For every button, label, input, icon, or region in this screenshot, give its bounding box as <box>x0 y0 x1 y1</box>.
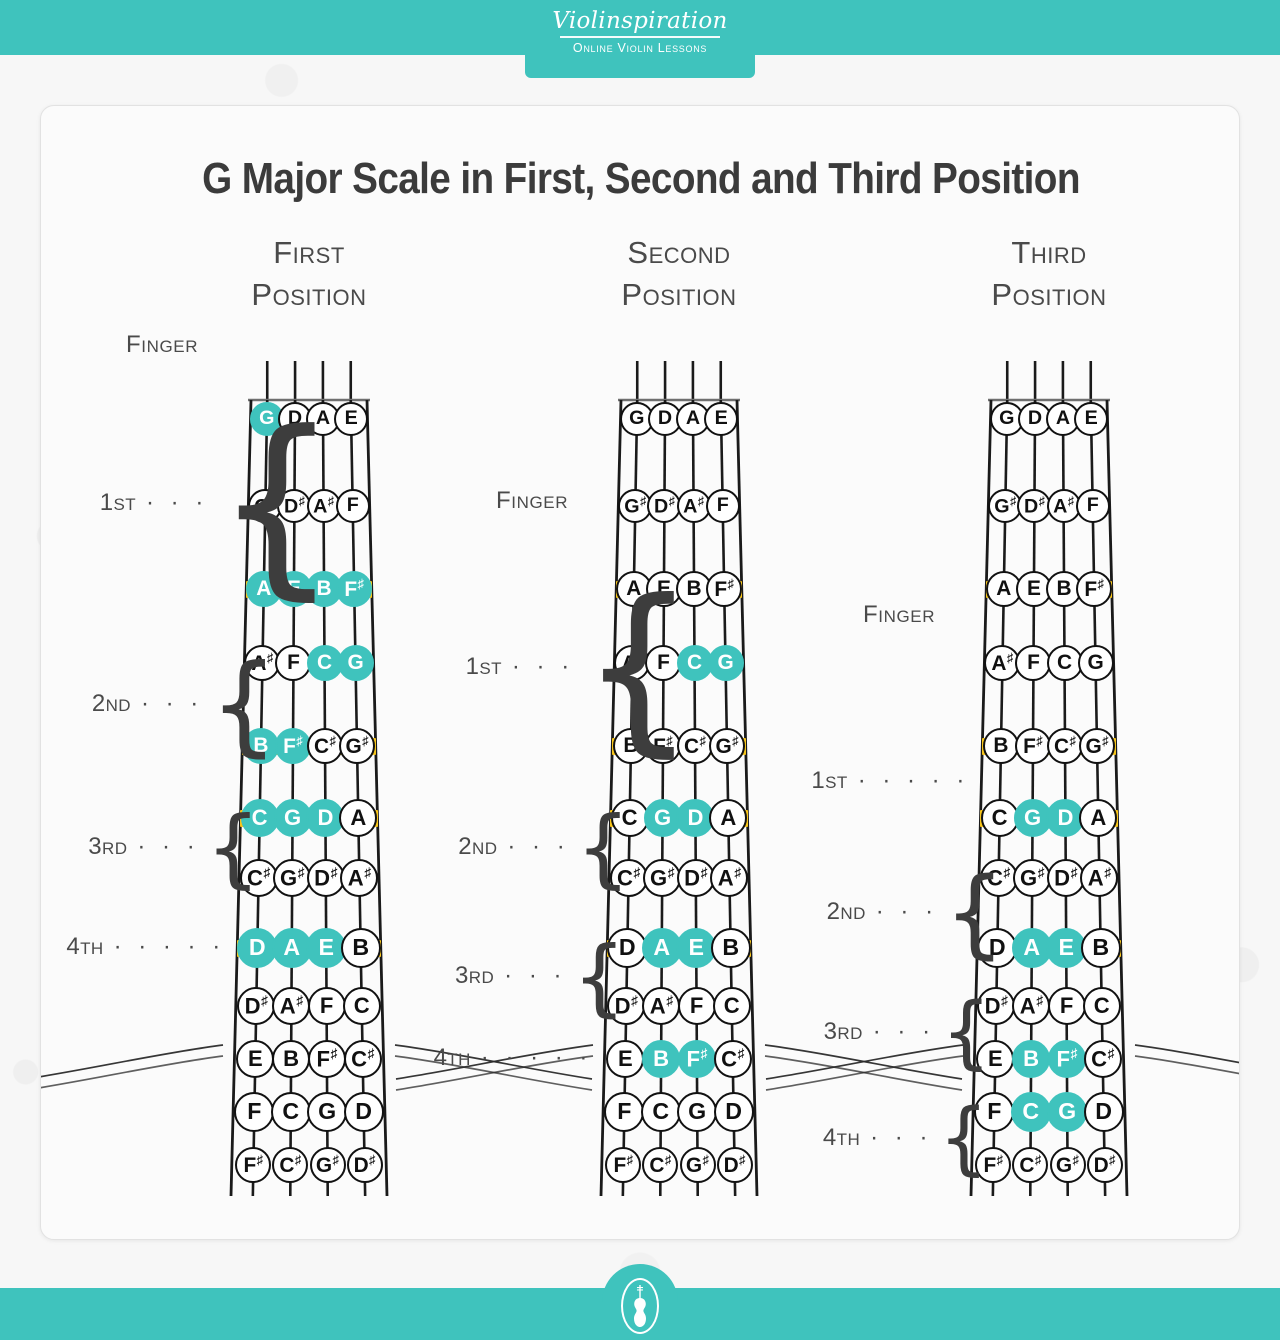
sharp-symbol: ♯ <box>1070 1046 1077 1061</box>
finger-row-label-3rd: 3rd· · · <box>767 1018 935 1046</box>
sharp-symbol: ♯ <box>633 865 640 880</box>
note-label: F♯ <box>283 735 303 758</box>
note-label: G♯ <box>316 1154 339 1177</box>
note-label: C♯ <box>649 1154 671 1177</box>
sharp-symbol: ♯ <box>296 993 303 1008</box>
sharp-symbol: ♯ <box>298 865 305 880</box>
sharp-symbol: ♯ <box>1010 494 1016 508</box>
sharp-symbol: ♯ <box>737 1046 744 1061</box>
position-heading-third: ThirdPosition <box>919 232 1179 316</box>
note-label: D <box>317 807 333 829</box>
note-marker[interactable]: C♯ <box>1047 728 1083 764</box>
note-label: A♯ <box>280 994 303 1017</box>
note-marker[interactable]: G♯ <box>1050 1147 1086 1183</box>
note-marker[interactable]: D♯ <box>677 859 715 897</box>
finger-brace: { <box>214 406 339 602</box>
finger-brace: { <box>944 865 1005 961</box>
finger-leader-dots: · · · <box>137 833 199 860</box>
note-marker[interactable]: G♯ <box>1013 859 1051 897</box>
note-marker[interactable]: G♯ <box>709 728 745 764</box>
finger-row-label-1st: 1st· · · · · <box>773 767 969 795</box>
finger-brace: { <box>580 576 696 759</box>
finger-brace: { <box>572 935 625 1019</box>
note-label: G♯ <box>994 495 1016 517</box>
note-marker[interactable]: F♯ <box>706 571 742 607</box>
note-label: A <box>283 936 300 959</box>
violin-body-curve-right <box>1135 1045 1240 1079</box>
note-label: G <box>1024 807 1041 829</box>
finger-leader-dots: · · · <box>504 962 566 989</box>
violin-body-curve-left <box>41 1045 223 1079</box>
note-label: F♯ <box>344 578 364 601</box>
sharp-symbol: ♯ <box>1104 865 1111 880</box>
note-label: F♯ <box>244 1154 264 1177</box>
content-card: G Major Scale in First, Second and Third… <box>40 105 1240 1240</box>
note-label: F <box>987 1100 1001 1123</box>
note-label: C <box>317 653 332 674</box>
note-marker[interactable]: F♯ <box>336 571 372 607</box>
sharp-symbol: ♯ <box>369 1152 375 1167</box>
note-label: D <box>1028 409 1042 429</box>
note-label: A♯ <box>1053 495 1074 517</box>
note-marker[interactable]: B <box>983 728 1019 764</box>
note-label: B <box>283 1048 299 1070</box>
note-label: C♯ <box>314 735 336 758</box>
note-label: D <box>687 807 703 829</box>
sharp-symbol: ♯ <box>732 733 738 748</box>
finger-row-label-1st: 1st· · · <box>40 489 208 517</box>
note-label: A <box>686 409 700 429</box>
note-label: G <box>629 409 644 429</box>
note-marker[interactable]: G♯ <box>680 1147 716 1183</box>
note-marker[interactable]: B <box>1081 928 1121 968</box>
note-marker[interactable]: C <box>641 1092 681 1132</box>
note-label: G <box>654 807 671 829</box>
finger-row-label-4th: 4th· · · · · <box>40 933 225 961</box>
note-marker[interactable]: F♯ <box>1015 728 1051 764</box>
note-marker[interactable]: F <box>678 987 716 1025</box>
sharp-symbol: ♯ <box>698 494 704 508</box>
note-label: B <box>722 936 739 959</box>
finger-leader-dots: · · · · · <box>114 933 226 960</box>
heading-line-1: Second <box>549 232 809 274</box>
note-marker[interactable]: F♯ <box>678 1040 716 1078</box>
note-label: A <box>350 807 366 829</box>
note-label: G <box>688 1100 706 1123</box>
sharp-symbol: ♯ <box>1070 733 1076 748</box>
sharp-symbol: ♯ <box>1073 1152 1079 1167</box>
sharp-symbol: ♯ <box>1107 1046 1114 1061</box>
sharp-symbol: ♯ <box>362 733 368 748</box>
note-marker[interactable]: G <box>307 1092 347 1132</box>
note-label: F♯ <box>1056 1047 1077 1070</box>
position-heading-second: SecondPosition <box>549 232 809 316</box>
note-label: E <box>618 1048 633 1070</box>
note-marker[interactable]: F♯ <box>308 1040 346 1078</box>
note-marker[interactable]: D <box>1084 1092 1124 1132</box>
position-heading-first: FirstPosition <box>179 232 439 316</box>
note-label: C♯ <box>1019 1154 1041 1177</box>
note-label: G♯ <box>715 735 738 758</box>
note-label: A <box>720 807 736 829</box>
note-label: D♯ <box>354 1154 376 1177</box>
note-label: C <box>282 1100 299 1123</box>
sharp-symbol: ♯ <box>668 865 675 880</box>
sharp-symbol: ♯ <box>728 576 734 591</box>
note-label: E <box>1027 579 1041 600</box>
finger-number: 4th <box>66 933 103 960</box>
note-marker[interactable]: B <box>711 928 751 968</box>
note-label: A♯ <box>1088 866 1111 889</box>
note-marker[interactable]: G♯ <box>643 859 681 897</box>
note-marker[interactable]: D♯ <box>1087 1147 1123 1183</box>
note-label: A <box>1056 409 1070 429</box>
note-label: D♯ <box>654 495 675 517</box>
note-label: F♯ <box>316 1047 337 1070</box>
note-marker[interactable]: E <box>704 402 738 436</box>
finger-leader-dots: · · · <box>873 1018 935 1045</box>
brand-divider <box>560 36 720 38</box>
finger-number: 4th <box>823 1124 860 1151</box>
sharp-symbol: ♯ <box>330 733 336 748</box>
sharp-symbol: ♯ <box>1071 865 1078 880</box>
note-label: G <box>284 807 301 829</box>
note-marker[interactable]: B <box>341 928 381 968</box>
violin-body-curve-right <box>1135 1056 1240 1090</box>
finger-number: 2nd <box>458 833 497 860</box>
note-label: F <box>347 496 359 516</box>
sharp-symbol: ♯ <box>1109 1152 1115 1167</box>
note-label: G <box>1058 1100 1076 1123</box>
note-label: F <box>287 653 300 674</box>
note-label: A♯ <box>650 994 673 1017</box>
sharp-symbol: ♯ <box>1035 1152 1041 1167</box>
sharp-symbol: ♯ <box>1068 494 1074 508</box>
note-label: G♯ <box>1056 1154 1079 1177</box>
note-label: A <box>996 579 1011 600</box>
finger-brace: { <box>209 650 278 759</box>
note-label: B <box>1057 579 1072 600</box>
finger-number: 4th <box>434 1044 471 1071</box>
heading-line-2: Position <box>179 274 439 316</box>
brand-tagline: Online Violin Lessons <box>525 41 755 55</box>
finger-leader-dots: · · · · · <box>481 1044 593 1071</box>
note-label: D <box>249 936 266 959</box>
sharp-symbol: ♯ <box>669 494 675 508</box>
sharp-symbol: ♯ <box>666 993 673 1008</box>
brand-logo: Violinspiration Online Violin Lessons <box>525 0 755 78</box>
sharp-symbol: ♯ <box>333 1152 339 1167</box>
note-label: D♯ <box>1054 866 1077 889</box>
note-label: F <box>617 1100 631 1123</box>
finger-brace: { <box>938 1099 988 1178</box>
note-marker[interactable]: D <box>344 1092 384 1132</box>
note-marker[interactable]: G <box>1078 645 1114 681</box>
sharp-symbol: ♯ <box>263 865 270 880</box>
note-label: G♯ <box>686 1154 709 1177</box>
note-label: F♯ <box>686 1047 707 1070</box>
infographic-page: Violinspiration Online Violin Lessons G … <box>0 0 1280 1340</box>
note-label: A <box>1023 936 1040 959</box>
violin-body-curve-left <box>41 1056 223 1090</box>
note-label: C <box>1022 1100 1039 1123</box>
note-label: B <box>1023 1048 1039 1070</box>
sharp-symbol: ♯ <box>1007 650 1013 665</box>
note-label: F♯ <box>1023 735 1043 758</box>
heading-line-1: Third <box>919 232 1179 274</box>
finger-leader-dots: · · · · · <box>858 767 970 794</box>
sharp-symbol: ♯ <box>700 733 706 748</box>
note-label: F <box>247 1100 261 1123</box>
note-label: G♯ <box>280 866 304 889</box>
note-marker[interactable]: B <box>642 1040 680 1078</box>
note-label: D♯ <box>684 866 707 889</box>
violin-glyph <box>631 1284 649 1328</box>
finger-column-header-second: Finger <box>496 487 568 515</box>
note-label: C <box>652 1100 669 1123</box>
note-label: B <box>1092 936 1109 959</box>
note-label: C <box>354 995 370 1017</box>
note-label: A♯ <box>348 866 371 889</box>
note-marker[interactable]: F <box>706 489 740 523</box>
note-marker[interactable]: G♯ <box>339 728 375 764</box>
note-label: G♯ <box>650 866 674 889</box>
brand-name: Violinspiration <box>525 8 755 34</box>
sharp-symbol: ♯ <box>330 1046 337 1061</box>
note-label: C <box>1094 995 1110 1017</box>
sharp-symbol: ♯ <box>1038 865 1045 880</box>
finger-number: 3rd <box>455 962 494 989</box>
note-marker[interactable]: C <box>713 987 751 1025</box>
note-label: A♯ <box>991 652 1013 675</box>
note-label: A <box>653 936 670 959</box>
note-label: A♯ <box>1020 994 1043 1017</box>
note-marker[interactable]: C <box>1011 1092 1051 1132</box>
note-marker[interactable]: G♯ <box>1079 728 1115 764</box>
note-marker[interactable]: B <box>1012 1040 1050 1078</box>
note-marker[interactable]: C♯ <box>344 1040 382 1078</box>
sharp-symbol: ♯ <box>997 1152 1003 1167</box>
note-marker[interactable]: F♯ <box>1048 1040 1086 1078</box>
note-label: E <box>715 409 728 429</box>
note-label: G♯ <box>624 495 646 517</box>
finger-brace: { <box>576 805 631 891</box>
note-marker[interactable]: G <box>677 1092 717 1132</box>
note-marker[interactable]: D <box>714 1092 754 1132</box>
sharp-symbol: ♯ <box>739 1152 745 1167</box>
note-label: F♯ <box>614 1154 634 1177</box>
note-marker[interactable]: G <box>1047 1092 1087 1132</box>
note-marker[interactable]: D♯ <box>307 859 345 897</box>
note-label: G♯ <box>1020 866 1044 889</box>
note-label: F <box>320 995 333 1017</box>
finger-row-label-3rd: 3rd· · · <box>40 833 200 861</box>
note-marker[interactable]: C <box>271 1092 311 1132</box>
sharp-symbol: ♯ <box>257 1152 263 1167</box>
note-label: E <box>248 1048 263 1070</box>
note-label: E <box>688 936 703 959</box>
finger-row-label-2nd: 2nd· · · <box>402 833 570 861</box>
finger-leader-dots: · · · <box>876 898 938 925</box>
note-label: E <box>318 936 333 959</box>
finger-leader-dots: · · · <box>512 653 574 680</box>
note-marker[interactable]: D♯ <box>347 1147 383 1183</box>
note-label: G <box>999 409 1014 429</box>
finger-row-label-4th: 4th· · · <box>764 1124 932 1152</box>
note-label: C♯ <box>1054 735 1076 758</box>
sharp-symbol: ♯ <box>631 993 638 1008</box>
note-label: F <box>690 995 703 1017</box>
note-marker[interactable]: F <box>308 987 346 1025</box>
note-label: G <box>347 653 363 674</box>
note-label: C <box>1057 653 1072 674</box>
finger-row-label-4th: 4th· · · · · <box>396 1044 592 1072</box>
sharp-symbol: ♯ <box>1098 576 1104 591</box>
note-marker[interactable]: C <box>343 987 381 1025</box>
note-marker[interactable]: F <box>1048 987 1086 1025</box>
note-label: F <box>1027 653 1040 674</box>
note-label: D♯ <box>314 866 337 889</box>
finger-row-label-1st: 1st· · · <box>406 653 574 681</box>
note-label: G♯ <box>1085 735 1108 758</box>
sharp-symbol: ♯ <box>295 1152 301 1167</box>
sharp-symbol: ♯ <box>364 865 371 880</box>
note-label: D <box>355 1100 372 1123</box>
note-label: A♯ <box>718 866 741 889</box>
note-marker[interactable]: F♯ <box>275 728 311 764</box>
note-label: C <box>992 807 1008 829</box>
note-label: G <box>1087 653 1103 674</box>
note-label: F <box>717 496 729 516</box>
note-label: E <box>1085 409 1098 429</box>
sharp-symbol: ♯ <box>1039 494 1045 508</box>
note-label: D <box>658 409 672 429</box>
finger-brace: { <box>206 805 261 891</box>
finger-number: 1st <box>466 653 502 680</box>
sharp-symbol: ♯ <box>331 865 338 880</box>
finger-leader-dots: · · · <box>870 1124 932 1151</box>
note-label: F <box>1060 995 1073 1017</box>
note-label: C <box>724 995 740 1017</box>
sharp-symbol: ♯ <box>700 1046 707 1061</box>
note-label: D♯ <box>724 1154 746 1177</box>
sharp-symbol: ♯ <box>1036 993 1043 1008</box>
sharp-symbol: ♯ <box>296 733 302 748</box>
finger-row-label-2nd: 2nd· · · <box>770 898 938 926</box>
note-label: G♯ <box>345 735 368 758</box>
note-label: A <box>1090 807 1106 829</box>
note-marker[interactable]: E <box>334 402 368 436</box>
finger-leader-dots: · · · <box>141 690 203 717</box>
violin-icon <box>621 1278 659 1334</box>
note-label: B <box>653 1048 669 1070</box>
finger-row-label-2nd: 2nd· · · <box>40 690 203 718</box>
note-marker[interactable]: C♯ <box>307 728 343 764</box>
footer-badge <box>602 1264 678 1340</box>
finger-number: 3rd <box>824 1018 863 1045</box>
sharp-symbol: ♯ <box>1001 993 1008 1008</box>
note-marker[interactable]: F♯ <box>1076 571 1112 607</box>
sharp-symbol: ♯ <box>627 1152 633 1167</box>
note-marker[interactable]: C <box>981 799 1019 837</box>
note-marker[interactable]: C <box>1083 987 1121 1025</box>
note-label: F <box>1087 496 1099 516</box>
sharp-symbol: ♯ <box>261 993 268 1008</box>
note-label: D <box>725 1100 742 1123</box>
note-marker[interactable]: G <box>338 645 374 681</box>
note-label: D <box>1057 807 1073 829</box>
finger-number: 2nd <box>827 898 866 925</box>
finger-row-label-3rd: 3rd· · · <box>398 962 566 990</box>
note-marker[interactable]: G♯ <box>273 859 311 897</box>
finger-column-header-first: Finger <box>126 331 198 359</box>
finger-number: 2nd <box>92 690 131 717</box>
heading-line-2: Position <box>549 274 809 316</box>
finger-leader-dots: · · · <box>507 833 569 860</box>
note-marker[interactable]: B <box>272 1040 310 1078</box>
finger-brace: { <box>941 993 991 1072</box>
note-label: D♯ <box>245 994 268 1017</box>
note-marker[interactable]: D♯ <box>237 987 275 1025</box>
sharp-symbol: ♯ <box>703 1152 709 1167</box>
finger-number: 1st <box>811 767 847 794</box>
note-marker[interactable]: G <box>708 645 744 681</box>
note-label: A♯ <box>683 495 704 517</box>
note-marker[interactable]: D♯ <box>1047 859 1085 897</box>
sharp-symbol: ♯ <box>640 494 646 508</box>
finger-leader-dots: · · · <box>146 489 208 516</box>
note-label: F♯ <box>714 578 734 601</box>
note-label: C♯ <box>1091 1047 1114 1070</box>
note-marker[interactable]: C♯ <box>714 1040 752 1078</box>
finger-column-header-third: Finger <box>863 601 935 629</box>
note-label: C♯ <box>721 1047 744 1070</box>
note-label: B <box>993 736 1008 757</box>
note-marker[interactable]: F <box>336 489 370 523</box>
note-label: D♯ <box>1094 1154 1116 1177</box>
note-marker[interactable]: E <box>1074 402 1108 436</box>
sharp-symbol: ♯ <box>734 865 741 880</box>
sharp-symbol: ♯ <box>665 1152 671 1167</box>
note-label: C♯ <box>351 1047 374 1070</box>
note-marker[interactable]: G♯ <box>310 1147 346 1183</box>
sharp-symbol: ♯ <box>367 1046 374 1061</box>
finger-number: 1st <box>100 489 136 516</box>
heading-line-1: First <box>179 232 439 274</box>
sharp-symbol: ♯ <box>1036 733 1042 748</box>
note-label: E <box>1058 936 1073 959</box>
note-label: G <box>717 653 733 674</box>
note-label: F♯ <box>1084 578 1104 601</box>
note-marker[interactable]: D♯ <box>717 1147 753 1183</box>
sharp-symbol: ♯ <box>1102 733 1108 748</box>
note-label: D♯ <box>1024 495 1045 517</box>
note-label: C♯ <box>279 1154 301 1177</box>
note-label: D <box>1095 1100 1112 1123</box>
note-label: B <box>352 936 369 959</box>
note-label: G <box>318 1100 336 1123</box>
finger-number: 3rd <box>88 833 127 860</box>
note-marker[interactable]: C♯ <box>1084 1040 1122 1078</box>
sharp-symbol: ♯ <box>358 576 364 591</box>
sharp-symbol: ♯ <box>701 865 708 880</box>
note-label: E <box>345 409 358 429</box>
note-marker[interactable]: F <box>1076 489 1110 523</box>
heading-line-2: Position <box>919 274 1179 316</box>
